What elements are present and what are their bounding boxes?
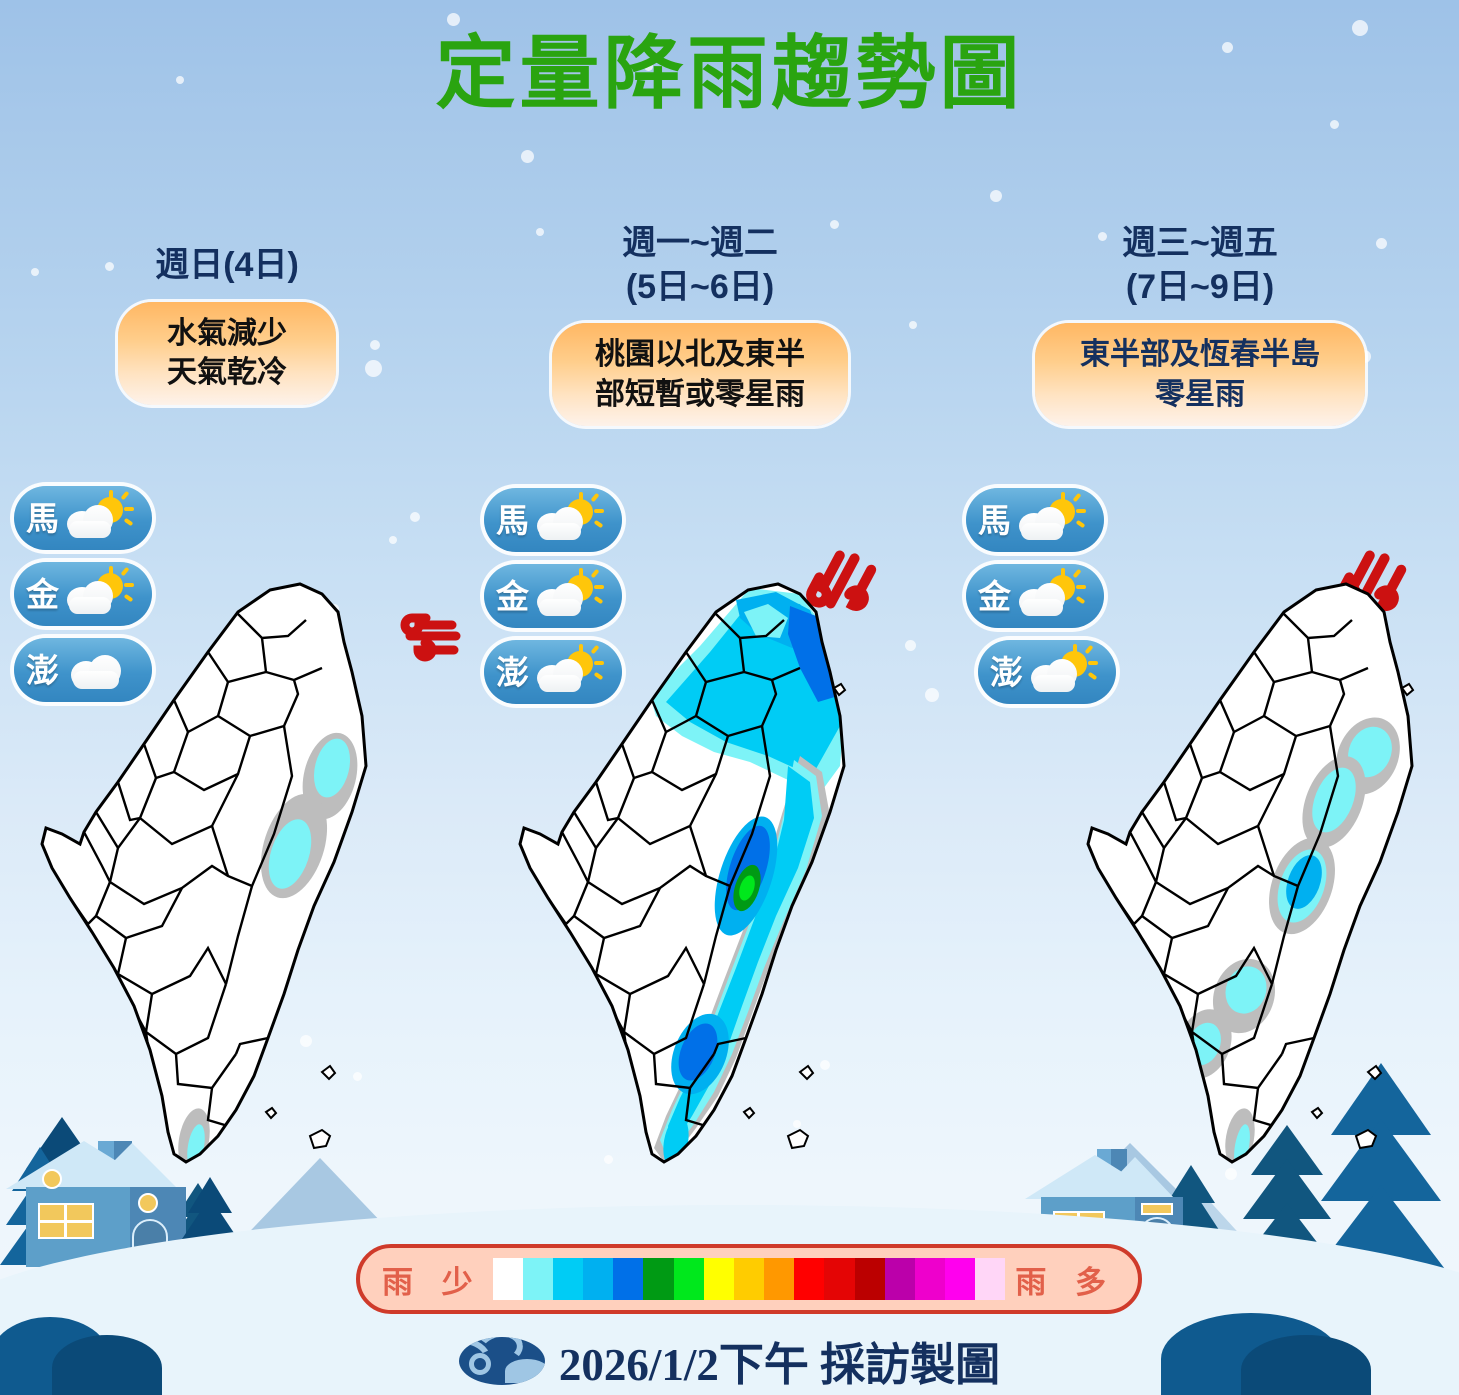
legend-label-more: 雨 多	[1015, 1257, 1116, 1302]
legend-swatch	[794, 1258, 824, 1300]
legend-color-scale	[493, 1258, 1006, 1300]
legend-swatch	[885, 1258, 915, 1300]
legend-label-less: 雨 少	[382, 1257, 483, 1302]
legend-swatch	[523, 1258, 553, 1300]
island-badge-matsu[interactable]: 馬	[966, 488, 1104, 552]
wave-oval-logo	[459, 1337, 545, 1385]
island-badge-label: 馬	[978, 504, 1011, 537]
island-badge-label: 馬	[496, 504, 529, 537]
island-badge-matsu[interactable]: 馬	[14, 486, 152, 550]
infographic-canvas: 定量降雨趨勢圖 週日(4日) 水氣減少 天氣乾冷 馬 金	[0, 0, 1459, 1395]
legend-swatch	[553, 1258, 583, 1300]
column-heading: 週三~週五 (7日~9日)	[1000, 222, 1400, 309]
column-heading: 週一~週二 (5日~6日)	[500, 222, 900, 309]
rainfall-map-wed-fri	[1068, 576, 1428, 1206]
legend-swatch	[704, 1258, 734, 1300]
sun-behind-cloud-icon	[1017, 497, 1079, 543]
legend-swatch	[855, 1258, 885, 1300]
island-badge-label: 馬	[26, 502, 59, 535]
sun-behind-cloud-icon	[535, 497, 597, 543]
island-badge-matsu[interactable]: 馬	[484, 488, 622, 552]
forecast-column-mon-tue: 週一~週二 (5日~6日) 桃園以北及東半 部短暫或零星雨	[500, 222, 900, 426]
legend-swatch	[493, 1258, 523, 1300]
footer: 2026/1/2下午 採訪製圖	[0, 1328, 1459, 1393]
column-summary-pill: 東半部及恆春半島 零星雨	[1035, 323, 1365, 426]
legend-swatch	[764, 1258, 794, 1300]
wind-horizontal-icon	[396, 604, 468, 671]
legend-swatch	[915, 1258, 945, 1300]
island-badge-label: 澎	[990, 656, 1023, 689]
forecast-column-wed-fri: 週三~週五 (7日~9日) 東半部及恆春半島 零星雨	[1000, 222, 1400, 426]
sun-behind-cloud-icon	[65, 495, 127, 541]
column-heading: 週日(4日)	[32, 244, 422, 288]
rainfall-legend: 雨 少 雨 多	[356, 1244, 1142, 1314]
legend-swatch	[583, 1258, 613, 1300]
column-summary-pill: 桃園以北及東半 部短暫或零星雨	[552, 323, 848, 426]
column-summary-pill: 水氣減少 天氣乾冷	[118, 302, 336, 405]
legend-swatch	[824, 1258, 854, 1300]
forecast-column-sunday: 週日(4日) 水氣減少 天氣乾冷	[32, 244, 422, 405]
legend-swatch	[975, 1258, 1005, 1300]
rainfall-map-sunday	[22, 576, 382, 1206]
page-title: 定量降雨趨勢圖	[0, 34, 1459, 114]
legend-swatch	[613, 1258, 643, 1300]
legend-swatch	[734, 1258, 764, 1300]
legend-swatch	[674, 1258, 704, 1300]
offshore-islet	[266, 1066, 335, 1148]
footer-text: 2026/1/2下午 採訪製圖	[559, 1328, 1000, 1393]
legend-swatch	[643, 1258, 673, 1300]
island-badge-label: 金	[978, 580, 1011, 613]
rainfall-map-mon-tue	[500, 576, 860, 1206]
legend-swatch	[945, 1258, 975, 1300]
